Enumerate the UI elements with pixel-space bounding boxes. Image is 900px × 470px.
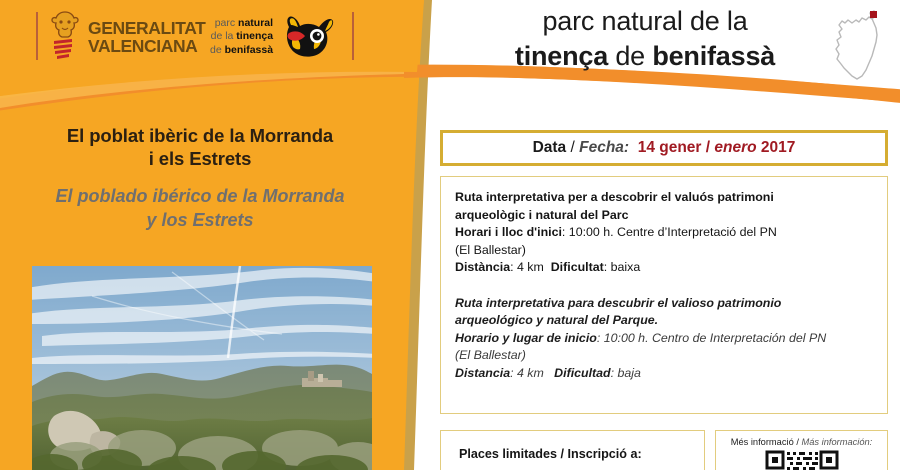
- description-catalan: Ruta interpretativa per a descobrir el v…: [455, 189, 873, 277]
- gva-line2: VALENCIANA: [88, 37, 205, 55]
- signup-box: Places limitades / Inscripció a:: [440, 430, 705, 470]
- title-bold-benifassa: benifassà: [652, 41, 775, 71]
- es-schedule-value-line2: (El Ballestar): [455, 348, 526, 362]
- info-box: Ruta interpretativa per a descobrir el v…: [440, 176, 888, 414]
- more-info-ca: Més informació: [731, 437, 794, 447]
- es-difficulty-value: : baja: [611, 366, 641, 380]
- parc-natural-tinenca-logo[interactable]: parc natural de la tinença de benifassà: [210, 8, 340, 66]
- es-difficulty-label: Dificultad: [554, 366, 610, 380]
- date-value-ca: 14 gener: [638, 139, 702, 156]
- event-title-es-line1: El poblado ibérico de la Morranda: [18, 184, 382, 208]
- valencia-region-map-icon: [826, 6, 888, 86]
- ca-distance-value: : 4 km: [510, 260, 544, 274]
- date-text: Data / Fecha: 14 gener / enero 2017: [533, 139, 796, 157]
- page-title: parc natural de la tinença de benifassà: [470, 4, 820, 74]
- qr-code-icon[interactable]: [765, 450, 839, 470]
- ca-schedule-value: : 10:00 h. Centre d’Interpretació del PN: [562, 225, 777, 239]
- gva-line1: GENERALITAT: [88, 18, 205, 38]
- es-intro-line1: Ruta interpretativa para descubrir el va…: [455, 296, 781, 310]
- es-distance-label: Distancia: [455, 366, 510, 380]
- title-line-2: tinença de benifassà: [470, 38, 820, 74]
- event-title-spanish: El poblado ibérico de la Morranda y los …: [18, 184, 382, 232]
- es-schedule-label: Horario y lugar de inicio: [455, 331, 597, 345]
- event-title-ca-line2: i els Estrets: [18, 147, 382, 170]
- ca-intro-line1: Ruta interpretativa per a descobrir el v…: [455, 190, 774, 204]
- ca-distance-label: Distància: [455, 260, 510, 274]
- title-bold-tinenca: tinença: [515, 41, 608, 71]
- park-l2-bold: tinença: [236, 30, 273, 42]
- gva-logo-text: GENERALITAT VALENCIANA: [88, 19, 205, 55]
- bottom-row: Places limitades / Inscripció a: Més inf…: [440, 430, 888, 470]
- photo-image: [32, 266, 372, 470]
- header-divider-right: [352, 12, 354, 60]
- date-box: Data / Fecha: 14 gener / enero 2017: [440, 130, 888, 166]
- ca-difficulty-value: : baixa: [604, 260, 641, 274]
- left-panel: El poblat ibèric de la Morranda i els Es…: [0, 110, 400, 470]
- right-panel: Data / Fecha: 14 gener / enero 2017 Ruta…: [440, 130, 888, 414]
- more-info-label: Més informació / Más información:: [716, 437, 887, 447]
- signup-label: Places limitades / Inscripció a:: [459, 447, 704, 461]
- ca-schedule-value-line2: (El Ballestar): [455, 243, 526, 257]
- gva-crest-icon: [48, 9, 82, 65]
- ca-schedule-label: Horari i lloc d'inici: [455, 225, 562, 239]
- es-intro-line2: arqueológico y natural del Parque.: [455, 313, 658, 327]
- generalitat-valenciana-logo[interactable]: GENERALITAT VALENCIANA: [48, 6, 223, 68]
- date-label-sep: /: [566, 139, 579, 156]
- ca-intro-line2: arqueològic i natural del Parc: [455, 208, 629, 222]
- location-marker-icon: [870, 11, 877, 18]
- park-l1-thin: parc: [215, 17, 238, 29]
- more-info-es: Más información:: [801, 437, 872, 447]
- description-spanish: Ruta interpretativa para descubrir el va…: [455, 295, 873, 383]
- date-value-year: 2017: [761, 139, 795, 156]
- title-thin-de: de: [608, 41, 652, 71]
- more-info-box: Més informació / Más información:: [715, 430, 888, 470]
- title-line-1: parc natural de la: [470, 4, 820, 38]
- date-label-es: Fecha:: [579, 139, 629, 156]
- fox-head-icon: [277, 13, 335, 61]
- header-divider-left: [36, 12, 38, 60]
- park-l3-thin: de: [210, 44, 225, 56]
- event-title-catalan: El poblat ibèric de la Morranda i els Es…: [18, 124, 382, 170]
- event-title-es-line2: y los Estrets: [18, 208, 382, 232]
- park-l1-bold: natural: [238, 17, 273, 29]
- es-schedule-value: : 10:00 h. Centro de Interpretación del …: [597, 331, 826, 345]
- park-l3-bold: benifassà: [225, 44, 273, 56]
- ca-difficulty-label: Dificultat: [551, 260, 604, 274]
- date-label-ca: Data: [533, 139, 567, 156]
- landscape-photo: [32, 266, 372, 470]
- park-l2-thin: de la: [211, 30, 237, 42]
- event-title-ca-line1: El poblat ibèric de la Morranda: [18, 124, 382, 147]
- date-value-es: enero: [714, 139, 756, 156]
- es-distance-value: : 4 km: [510, 366, 544, 380]
- poster-canvas: GENERALITAT VALENCIANA parc natural de l…: [0, 0, 900, 470]
- park-logo-text: parc natural de la tinença de benifassà: [210, 17, 273, 58]
- date-value-sep: /: [701, 139, 714, 156]
